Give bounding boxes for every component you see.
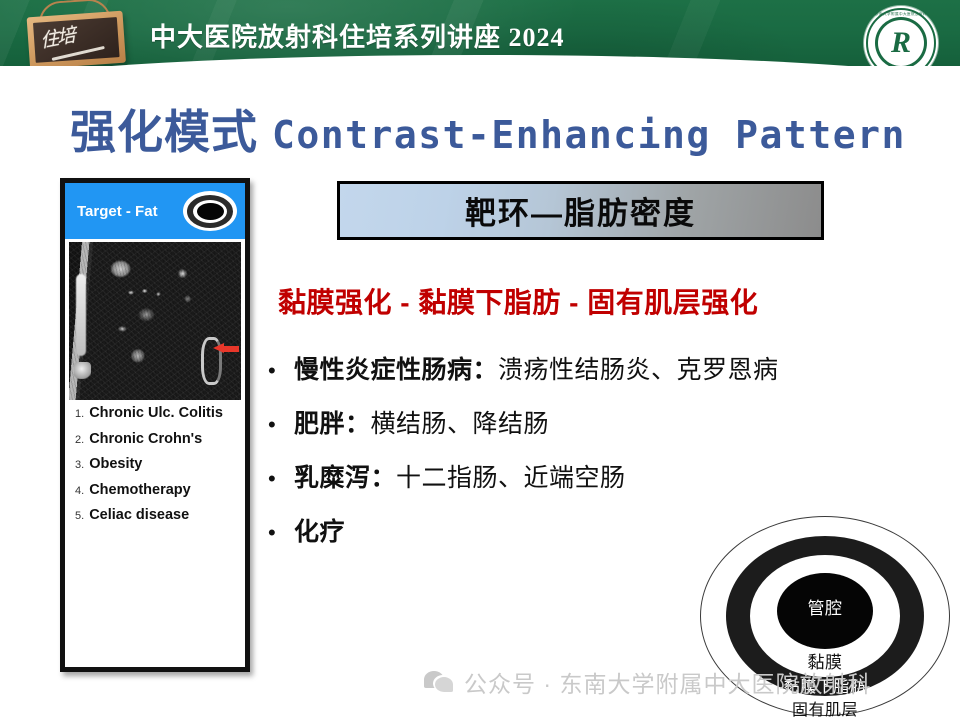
bullet-lead: 肥胖： [294,410,371,438]
figure-header-label: Target - Fat [77,203,183,220]
wechat-bubble-small [435,677,453,692]
bullet-rest: 十二指肠、近端空肠 [396,464,626,492]
target-ring-band [187,195,233,228]
subheading-text: 黏膜强化 - 黏膜下脂肪 - 固有肌层强化 [278,281,758,321]
chalkboard-text: 住培 [39,20,75,54]
target-ring-gap [193,200,227,223]
list-item: • 乳糜泻：十二指肠、近端空肠 [268,458,948,494]
bullet-content: 慢性炎症性肠病：溃疡性结肠炎、克罗恩病 [294,350,779,386]
ct-spine-structure [76,274,86,356]
header-banner: 住培 中大医院放射科住培系列讲座 2024 东南大学附属中大医院放射科 DEPA… [0,0,960,66]
ct-scan-image [69,242,241,400]
red-arrow-icon [213,343,239,354]
figure-header: Target - Fat [65,183,245,239]
ring-label-lumen: 管腔 [700,594,950,619]
bullet-lead: 乳糜泻： [294,464,396,492]
bullet-content: 乳糜泻：十二指肠、近端空肠 [294,458,626,494]
target-ring-icon [183,191,237,231]
wechat-watermark: 公众号 · 东南大学附属中大医院放射科 [424,665,871,699]
target-ring-core [197,203,224,220]
ring-label-muscularis: 固有肌层 [700,696,950,720]
bullet-rest: 横结肠、降结肠 [371,410,550,438]
bullet-lead: 化疗 [294,518,345,546]
list-item: • 慢性炎症性肠病：溃疡性结肠炎、克罗恩病 [268,350,948,386]
bullet-dot-icon: • [268,414,294,436]
wechat-icon [424,671,454,693]
page-title-en: Contrast-Enhancing Pattern [272,113,906,157]
list-item: • 肥胖：横结肠、降结肠 [268,404,948,440]
list-item: Chronic Crohn's [75,432,245,447]
bullet-rest: 溃疡性结肠炎、克罗恩病 [498,356,779,384]
page-title-cn: 强化模式 [70,106,258,158]
bullet-dot-icon: • [268,360,294,382]
logo-monogram: R [864,6,938,66]
bullet-content: 肥胖：横结肠、降结肠 [294,404,549,440]
section-heading-label: 靶环—脂肪密度 [465,188,696,233]
ct-vertebra-structure [74,362,91,379]
watermark-text: 公众号 · 东南大学附属中大医院放射科 [464,665,871,699]
bullet-lead: 慢性炎症性肠病： [294,356,498,384]
list-item: Chronic Ulc. Colitis [75,406,245,421]
bullet-content: 化疗 [294,512,345,548]
banner-title: 中大医院放射科住培系列讲座 2024 [150,17,565,54]
reference-figure-panel: Target - Fat Chronic Ulc. Colitis Chroni… [60,178,250,672]
section-heading-box: 靶环—脂肪密度 [337,181,824,240]
chalkboard-frame: 住培 [27,11,126,66]
hospital-logo-icon: 东南大学附属中大医院放射科 DEPARTMENT OF RADIOLOGY ZH… [864,6,938,66]
differential-diagnosis-list: Chronic Ulc. Colitis Chronic Crohn's Obe… [65,406,245,523]
bullet-dot-icon: • [268,468,294,490]
chalkboard-slate: 住培 [33,17,120,63]
chalkboard-logo-icon: 住培 [26,3,126,66]
list-item: Obesity [75,457,245,472]
page-title: 强化模式Contrast-Enhancing Pattern [70,96,906,162]
arrow-head [213,343,224,353]
bullet-dot-icon: • [268,522,294,544]
arrow-shaft [222,346,239,352]
list-item: Celiac disease [75,508,245,523]
list-item: Chemotherapy [75,483,245,498]
